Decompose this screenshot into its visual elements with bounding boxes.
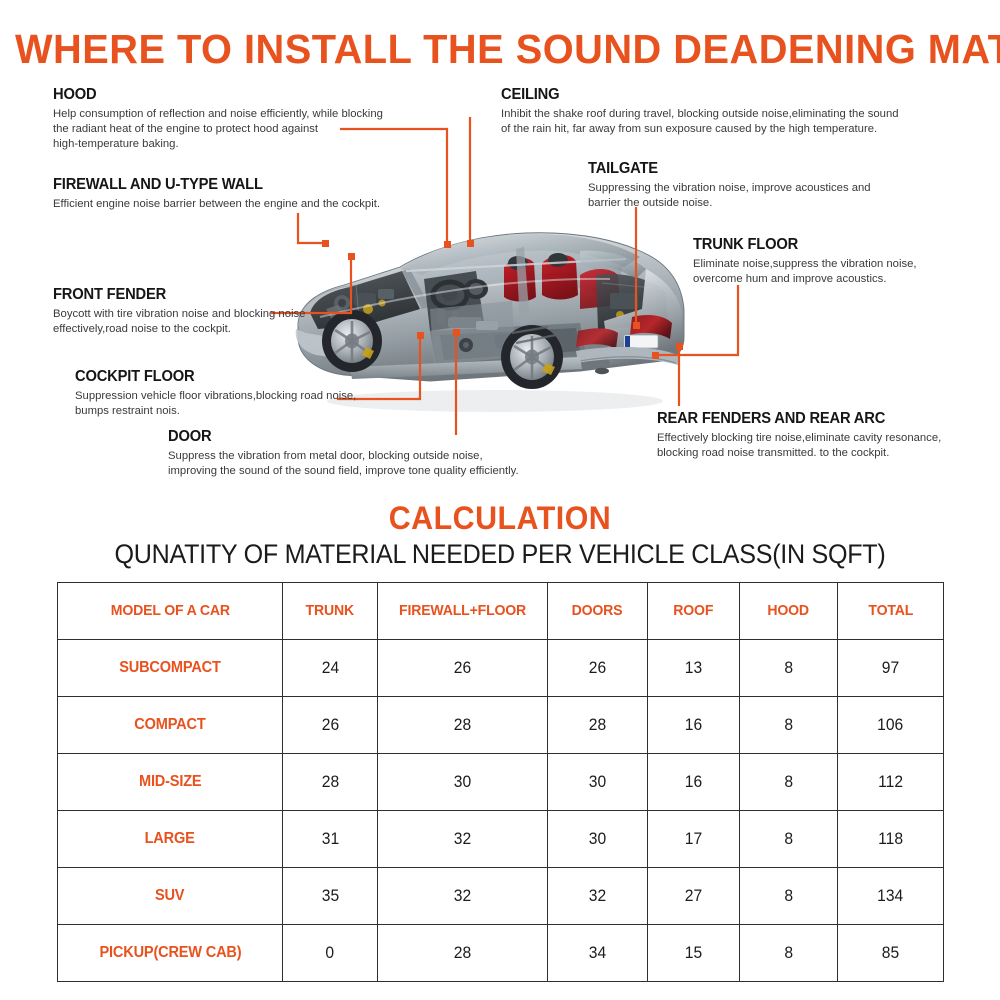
cell-firewall-floor: 28 xyxy=(378,697,548,754)
col-header-trunk: TRUNK xyxy=(283,583,378,640)
calculation-heading: CALCULATION xyxy=(25,500,975,537)
cell-roof: 16 xyxy=(648,754,740,811)
callout-tailgate: TAILGATE Suppressing the vibration noise… xyxy=(588,160,948,211)
cell-firewall-floor: 32 xyxy=(378,868,548,925)
cell-trunk: 0 xyxy=(283,925,378,982)
callout-front-fender-title: FRONT FENDER xyxy=(53,286,376,304)
table-row: LARGE 31 32 30 17 8 118 xyxy=(58,811,944,868)
callout-tailgate-title: TAILGATE xyxy=(588,160,930,178)
callout-ceiling-title: CEILING xyxy=(501,86,919,104)
callout-rear-fenders-title: REAR FENDERS AND REAR ARC xyxy=(657,410,971,428)
table-row: MID-SIZE 28 30 30 16 8 112 xyxy=(58,754,944,811)
cell-roof: 17 xyxy=(648,811,740,868)
col-header-firewall-floor: FIREWALL+FLOOR xyxy=(378,583,548,640)
calculation-subheading: QUNATITY OF MATERIAL NEEDED PER VEHICLE … xyxy=(35,539,965,570)
table-row: COMPACT 26 28 28 16 8 106 xyxy=(58,697,944,754)
cell-trunk: 28 xyxy=(283,754,378,811)
callout-ceiling-body: Inhibit the shake roof during travel, bl… xyxy=(501,107,941,137)
callout-firewall-title: FIREWALL AND U-TYPE WALL xyxy=(53,176,433,194)
cell-model: SUBCOMPACT xyxy=(58,640,283,697)
callout-rear-fenders: REAR FENDERS AND REAR ARC Effectively bl… xyxy=(657,410,987,461)
cell-hood: 8 xyxy=(740,754,838,811)
cell-roof: 13 xyxy=(648,640,740,697)
col-header-hood: HOOD xyxy=(740,583,838,640)
cell-model: SUV xyxy=(58,868,283,925)
cell-doors: 30 xyxy=(548,754,648,811)
cell-doors: 26 xyxy=(548,640,648,697)
callout-trunk-floor-body: Eliminate noise,suppress the vibration n… xyxy=(693,257,993,287)
cell-doors: 34 xyxy=(548,925,648,982)
page-title: WHERE TO INSTALL THE SOUND DEADENING MAT… xyxy=(15,26,985,73)
callout-door-title: DOOR xyxy=(168,428,548,446)
cell-firewall-floor: 32 xyxy=(378,811,548,868)
cell-doors: 28 xyxy=(548,697,648,754)
cell-total: 134 xyxy=(838,868,944,925)
callout-trunk-floor-title: TRUNK FLOOR xyxy=(693,236,978,254)
infographic-page: WHERE TO INSTALL THE SOUND DEADENING MAT… xyxy=(0,0,1000,1000)
cell-firewall-floor: 30 xyxy=(378,754,548,811)
cell-doors: 32 xyxy=(548,868,648,925)
callout-rear-fenders-body: Effectively blocking tire noise,eliminat… xyxy=(657,431,987,461)
cell-trunk: 24 xyxy=(283,640,378,697)
cell-model: MID-SIZE xyxy=(58,754,283,811)
cell-doors: 30 xyxy=(548,811,648,868)
cell-hood: 8 xyxy=(740,868,838,925)
cell-total: 112 xyxy=(838,754,944,811)
callout-firewall: FIREWALL AND U-TYPE WALL Efficient engin… xyxy=(53,176,453,212)
callout-tailgate-body: Suppressing the vibration noise, improve… xyxy=(588,181,948,211)
callout-ceiling: CEILING Inhibit the shake roof during tr… xyxy=(501,86,941,137)
cell-model: COMPACT xyxy=(58,697,283,754)
col-header-model: MODEL OF A CAR xyxy=(58,583,283,640)
callout-front-fender-body: Boycott with tire vibration noise and bl… xyxy=(53,307,393,337)
col-header-doors: DOORS xyxy=(548,583,648,640)
cell-model: LARGE xyxy=(58,811,283,868)
col-header-total: TOTAL xyxy=(838,583,944,640)
col-header-roof: ROOF xyxy=(648,583,740,640)
exhaust-tip xyxy=(595,368,609,374)
cell-total: 85 xyxy=(838,925,944,982)
cell-trunk: 26 xyxy=(283,697,378,754)
cell-roof: 15 xyxy=(648,925,740,982)
cell-trunk: 31 xyxy=(283,811,378,868)
cell-trunk: 35 xyxy=(283,868,378,925)
callout-front-fender: FRONT FENDER Boycott with tire vibration… xyxy=(53,286,393,337)
callout-trunk-floor: TRUNK FLOOR Eliminate noise,suppress the… xyxy=(693,236,993,287)
table-row: SUBCOMPACT 24 26 26 13 8 97 xyxy=(58,640,944,697)
callout-hood-title: HOOD xyxy=(53,86,414,104)
cell-model: PICKUP(CREW CAB) xyxy=(58,925,283,982)
callout-cockpit-floor-body: Suppression vehicle floor vibrations,blo… xyxy=(75,389,415,419)
rear-wheel xyxy=(501,325,563,389)
cell-hood: 8 xyxy=(740,640,838,697)
callout-hood-body: Help consumption of reflection and noise… xyxy=(53,107,433,152)
cell-total: 97 xyxy=(838,640,944,697)
cell-total: 106 xyxy=(838,697,944,754)
callout-door: DOOR Suppress the vibration from metal d… xyxy=(168,428,568,479)
callout-hood: HOOD Help consumption of reflection and … xyxy=(53,86,433,152)
callout-door-body: Suppress the vibration from metal door, … xyxy=(168,449,568,479)
cell-firewall-floor: 26 xyxy=(378,640,548,697)
cell-roof: 16 xyxy=(648,697,740,754)
table-row: SUV 35 32 32 27 8 134 xyxy=(58,868,944,925)
cell-roof: 27 xyxy=(648,868,740,925)
table-row: PICKUP(CREW CAB) 0 28 34 15 8 85 xyxy=(58,925,944,982)
table-header-row: MODEL OF A CAR TRUNK FIREWALL+FLOOR DOOR… xyxy=(58,583,944,640)
callout-cockpit-floor-title: COCKPIT FLOOR xyxy=(75,368,398,386)
cell-hood: 8 xyxy=(740,925,838,982)
callout-cockpit-floor: COCKPIT FLOOR Suppression vehicle floor … xyxy=(75,368,415,419)
material-quantity-table: MODEL OF A CAR TRUNK FIREWALL+FLOOR DOOR… xyxy=(57,582,944,982)
callout-firewall-body: Efficient engine noise barrier between t… xyxy=(53,197,453,212)
cell-hood: 8 xyxy=(740,697,838,754)
cell-firewall-floor: 28 xyxy=(378,925,548,982)
cell-total: 118 xyxy=(838,811,944,868)
cell-hood: 8 xyxy=(740,811,838,868)
